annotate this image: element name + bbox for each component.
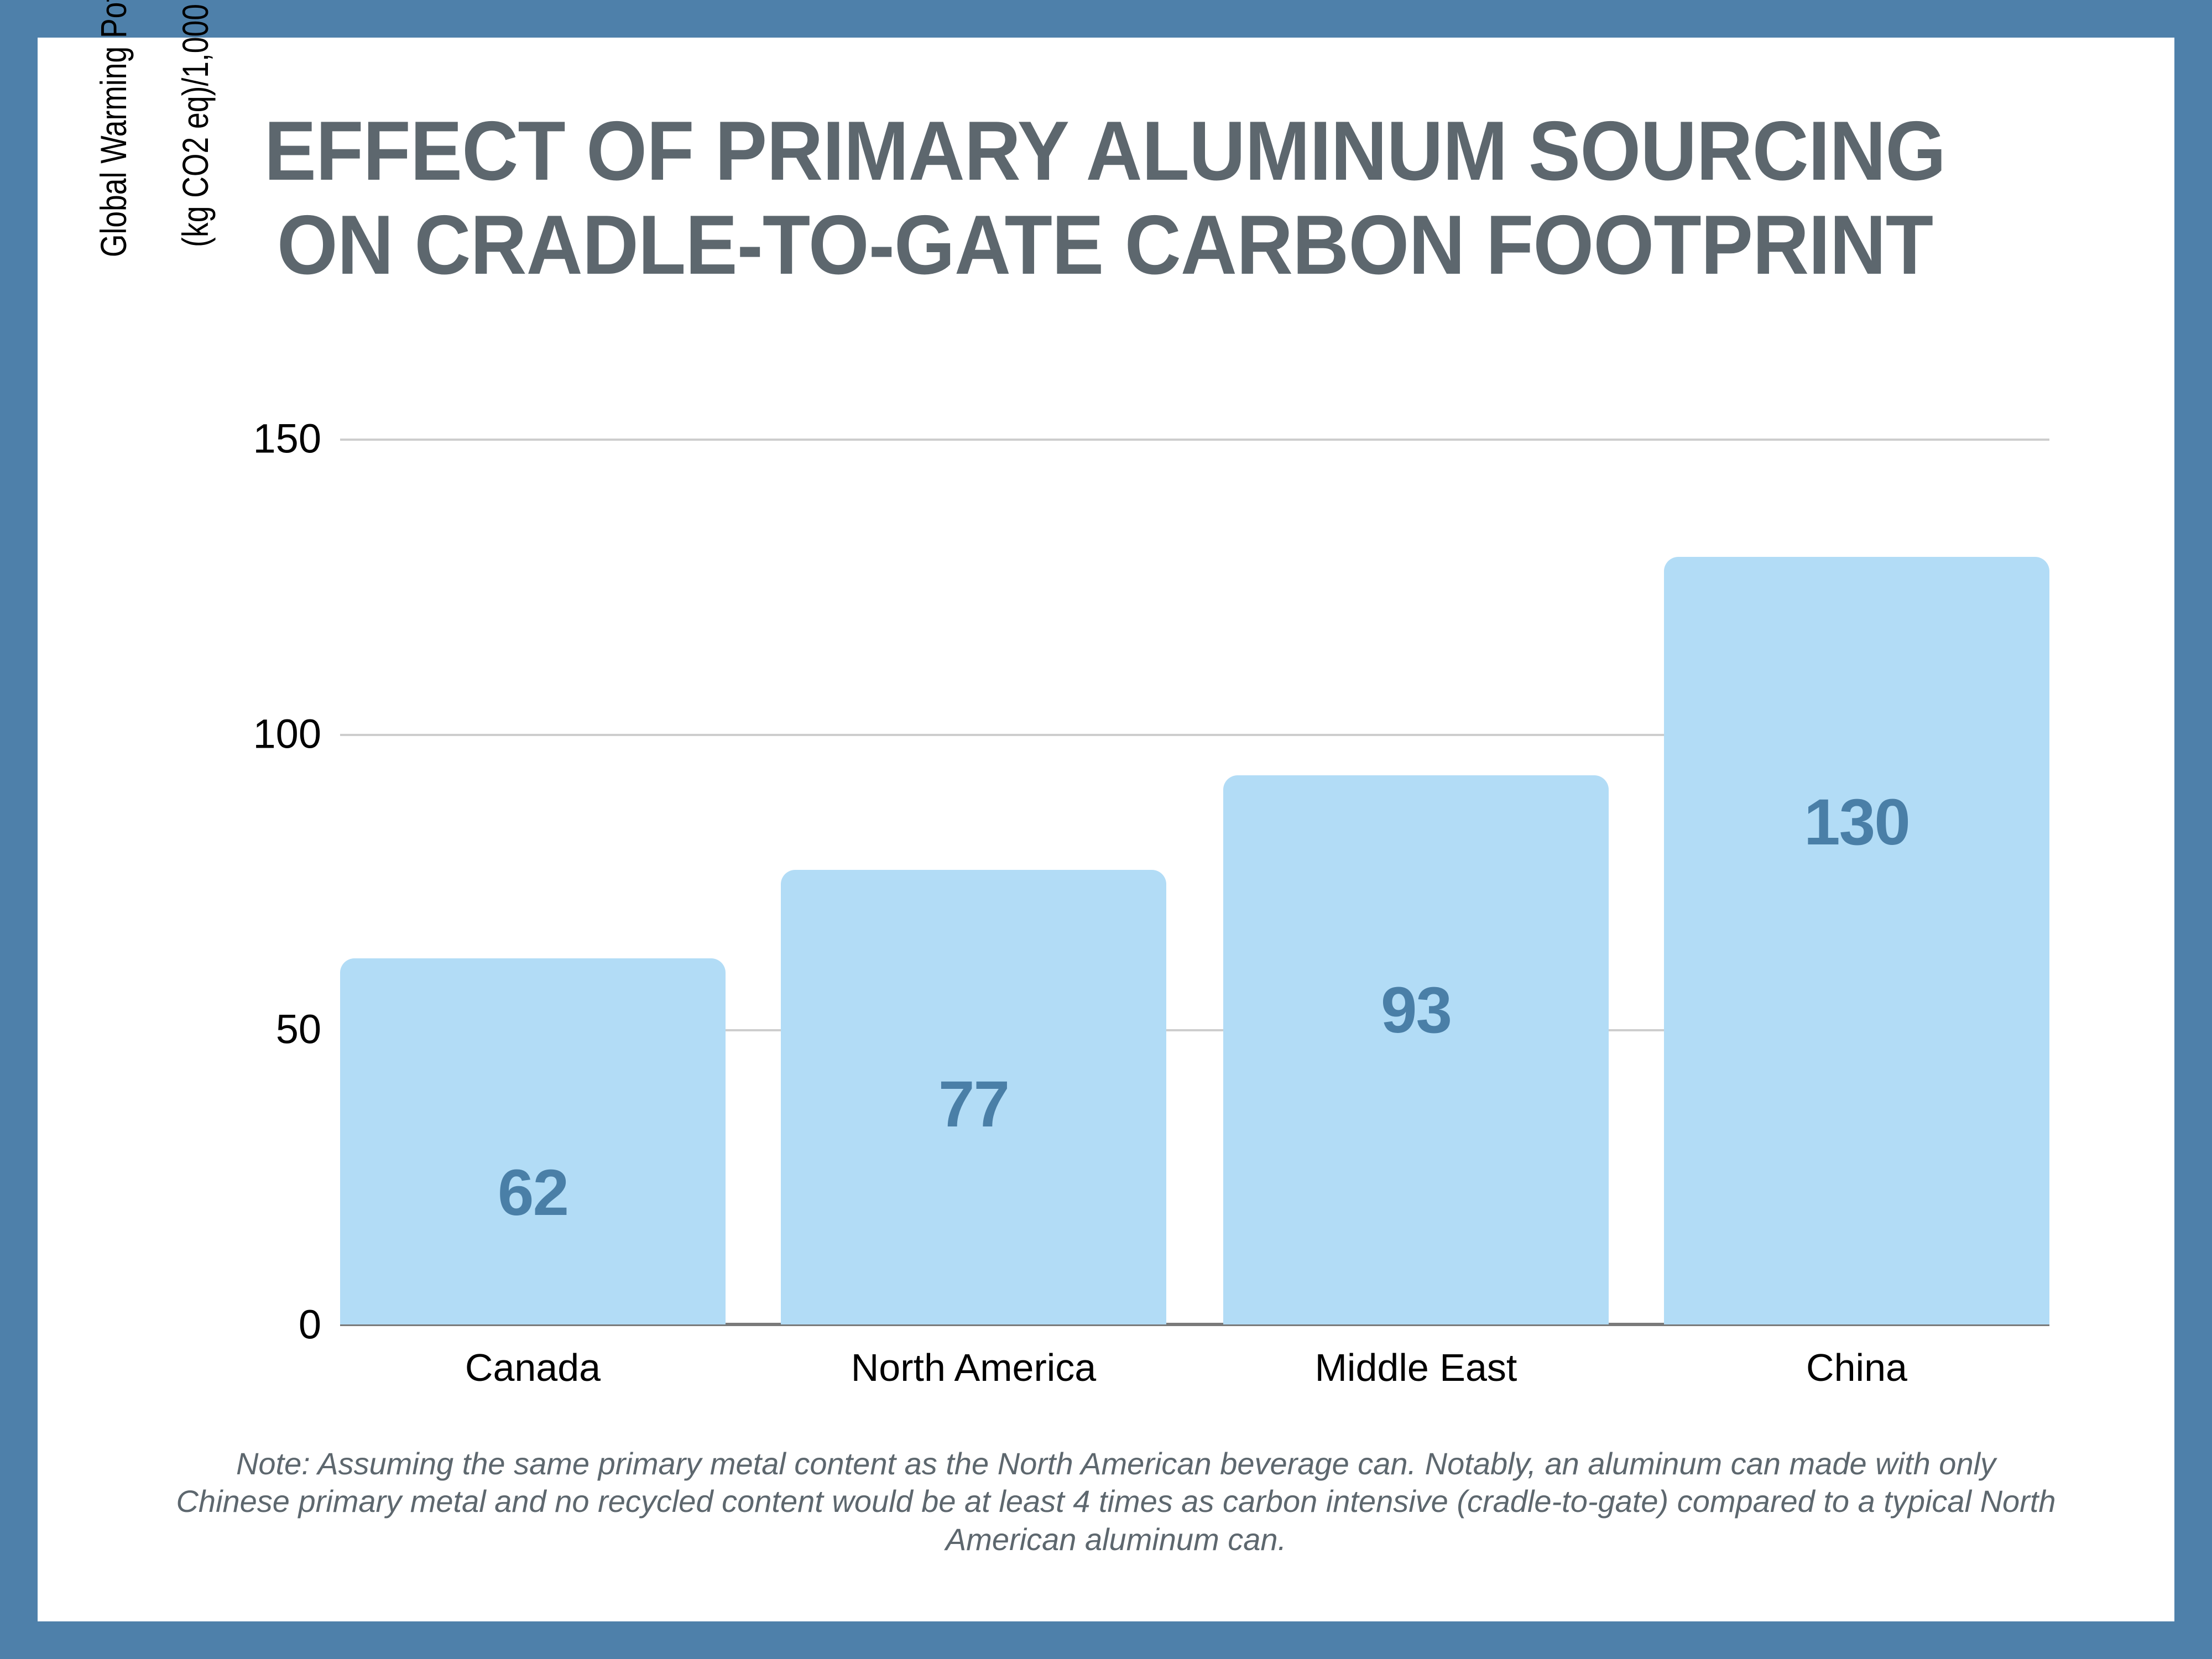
bar-north-america[interactable]: 77 North America [781, 870, 1166, 1324]
y-tick-label-100: 100 [253, 711, 321, 758]
y-axis-title: Global Warming Potential (kg CO2 eq)/1,0… [100, 0, 210, 477]
x-tick-label-middle-east: Middle East [1223, 1345, 1609, 1390]
x-tick-label-north-america: North America [781, 1345, 1166, 1390]
slide-background: EFFECT OF PRIMARY ALUMINUM SOURCING ON C… [0, 0, 2212, 1659]
page-title: EFFECT OF PRIMARY ALUMINUM SOURCING ON C… [184, 104, 2025, 292]
y-tick-label-50: 50 [276, 1006, 321, 1053]
bar-value-north-america: 77 [781, 1067, 1166, 1142]
bar-value-middle-east: 93 [1223, 973, 1609, 1048]
y-axis-title-line-2: (kg CO2 eq)/1,000 cans [175, 0, 216, 257]
gridline-150 [340, 439, 2049, 441]
chart-footnote: Note: Assuming the same primary metal co… [176, 1445, 2056, 1558]
bar-value-china: 130 [1664, 785, 2049, 860]
x-tick-label-china: China [1664, 1345, 2049, 1390]
bar-canada[interactable]: 62 Canada [340, 958, 726, 1324]
bar-value-canada: 62 [340, 1155, 726, 1230]
slide-content-area: EFFECT OF PRIMARY ALUMINUM SOURCING ON C… [38, 38, 2174, 1621]
bar-middle-east[interactable]: 93 Middle East [1223, 775, 1609, 1324]
y-tick-label-150: 150 [253, 415, 321, 462]
x-tick-label-canada: Canada [340, 1345, 726, 1390]
y-axis-title-line-1: Global Warming Potential [93, 0, 134, 257]
chart-plot-area: 150 100 50 0 62 Canada 77 North America … [340, 439, 2049, 1324]
y-tick-label-0: 0 [299, 1301, 321, 1348]
bar-china[interactable]: 130 China [1664, 557, 2049, 1324]
